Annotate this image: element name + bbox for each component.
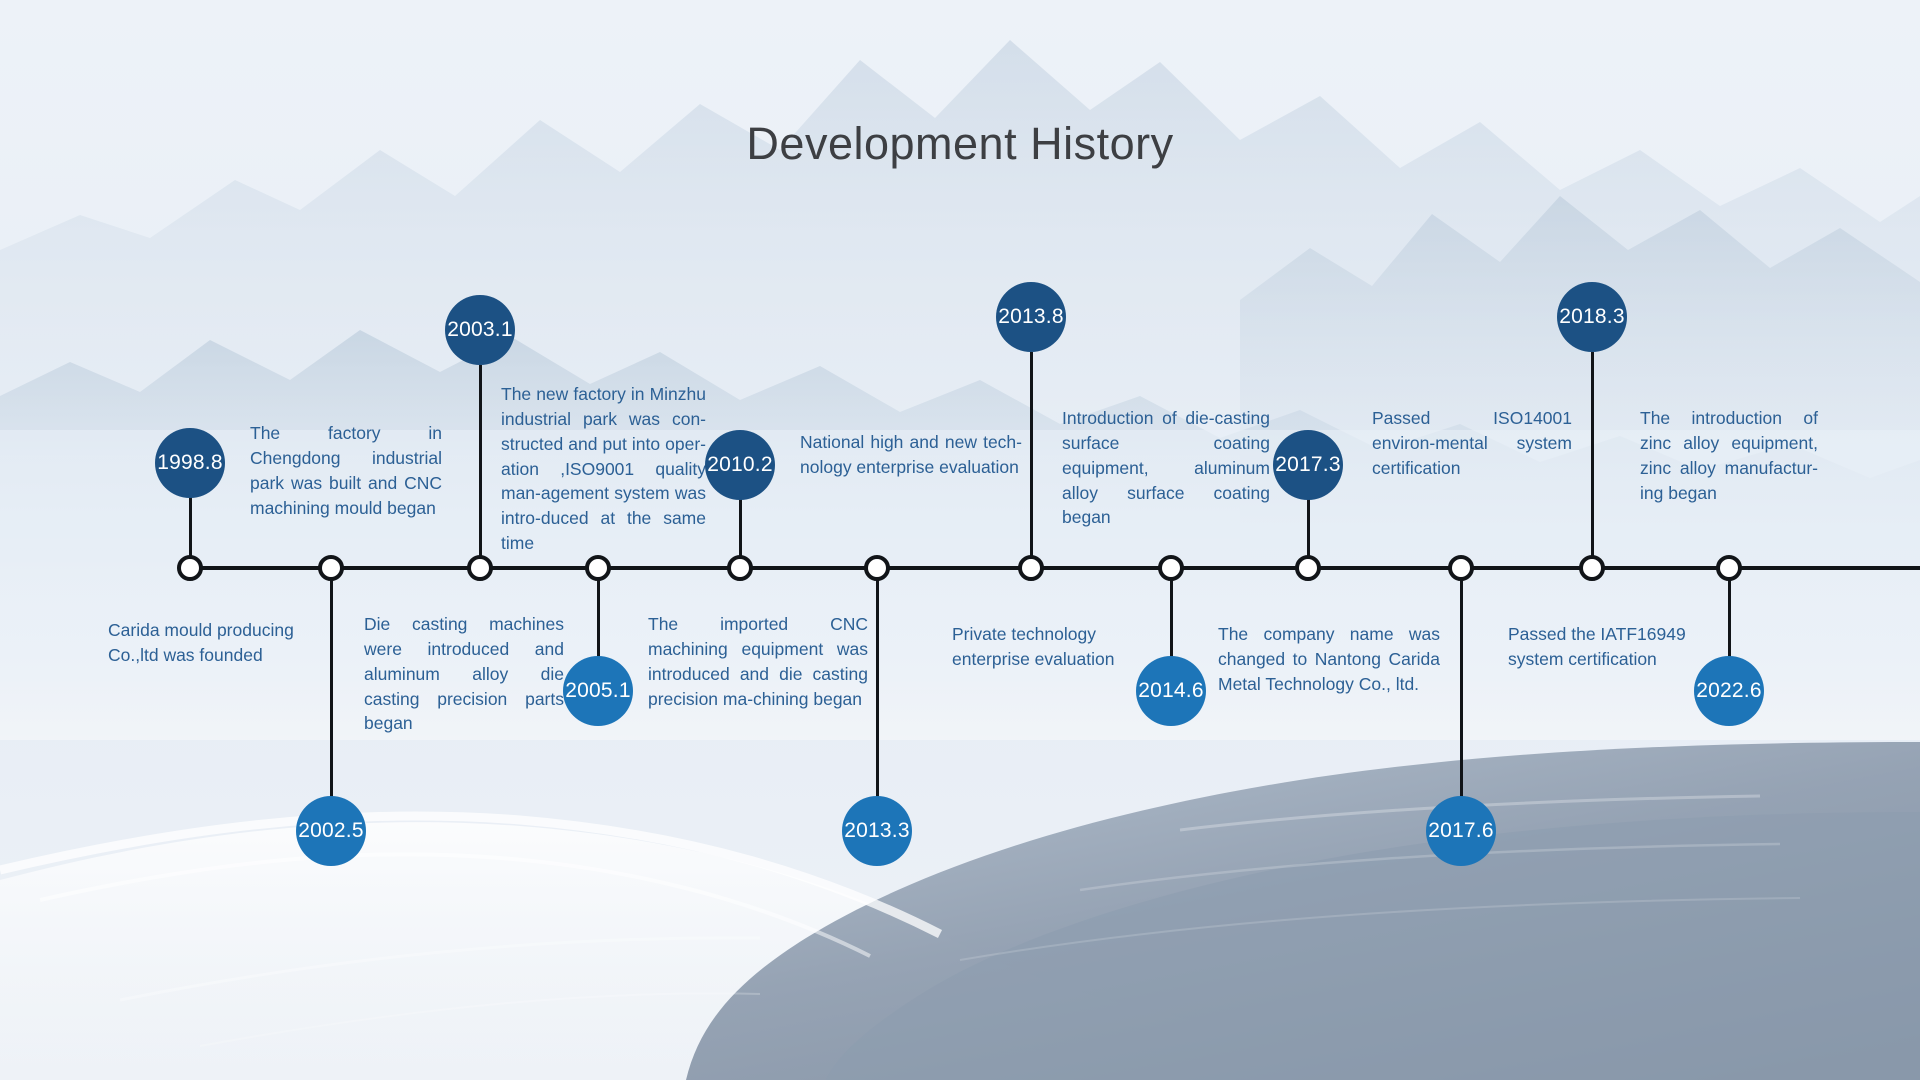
event-description-2002-5: The factory in Chengdong industrial park… (250, 421, 442, 520)
event-description-2013-8: Private technology enterprise evaluation (952, 622, 1132, 672)
year-bubble-2014-6[interactable]: 2014.6 (1136, 656, 1206, 726)
event-description-2017-3: The company name was changed to Nantong … (1218, 622, 1440, 697)
year-bubble-2018-3[interactable]: 2018.3 (1557, 282, 1627, 352)
stem-2018-3 (1591, 352, 1594, 566)
year-bubble-2013-3[interactable]: 2013.3 (842, 796, 912, 866)
timeline-infographic: Development History 1998.8 Carida mould … (0, 0, 1920, 1080)
year-label: 1998.8 (157, 451, 222, 475)
node-2022-6[interactable] (1716, 555, 1742, 581)
year-bubble-2017-3[interactable]: 2017.3 (1273, 430, 1343, 500)
year-bubble-2002-5[interactable]: 2002.5 (296, 796, 366, 866)
node-1998-8[interactable] (177, 555, 203, 581)
node-2003-1[interactable] (467, 555, 493, 581)
event-description-2003-1: The new factory in Minzhu industrial par… (501, 382, 706, 556)
stem-2017-6 (1460, 568, 1463, 818)
timeline-axis (178, 566, 1920, 570)
stem-2002-5 (330, 568, 333, 818)
stem-2003-1 (479, 365, 482, 566)
year-label: 2002.5 (298, 819, 363, 843)
event-description-2014-6: Introduction of die-casting surface coat… (1062, 406, 1270, 530)
year-bubble-2010-2[interactable]: 2010.2 (705, 430, 775, 500)
page-title: Development History (0, 118, 1920, 170)
year-bubble-2005-1[interactable]: 2005.1 (563, 656, 633, 726)
node-2010-2[interactable] (727, 555, 753, 581)
stem-2013-3 (876, 568, 879, 818)
node-2017-3[interactable] (1295, 555, 1321, 581)
year-bubble-2013-8[interactable]: 2013.8 (996, 282, 1066, 352)
year-label: 2017.3 (1275, 453, 1340, 477)
year-bubble-2003-1[interactable]: 2003.1 (445, 295, 515, 365)
node-2018-3[interactable] (1579, 555, 1605, 581)
year-label: 2003.1 (447, 318, 512, 342)
year-label: 2013.3 (844, 819, 909, 843)
year-label: 2010.2 (707, 453, 772, 477)
year-label: 2017.6 (1428, 819, 1493, 843)
node-2013-8[interactable] (1018, 555, 1044, 581)
event-description-2005-1: Die casting machines were introduced and… (364, 612, 564, 736)
node-2005-1[interactable] (585, 555, 611, 581)
year-bubble-1998-8[interactable]: 1998.8 (155, 428, 225, 498)
year-label: 2022.6 (1696, 679, 1761, 703)
event-description-2017-6: Passed ISO14001 environ-mental system ce… (1372, 406, 1572, 481)
event-description-2022-6: The introduction of zinc alloy equipment… (1640, 406, 1818, 505)
event-description-2010-2: The imported CNC machining equipment was… (648, 612, 868, 711)
year-bubble-2022-6[interactable]: 2022.6 (1694, 656, 1764, 726)
year-bubble-2017-6[interactable]: 2017.6 (1426, 796, 1496, 866)
event-description-1998-8: Carida mould producing Co.,ltd was found… (108, 618, 338, 668)
node-2017-6[interactable] (1448, 555, 1474, 581)
node-2014-6[interactable] (1158, 555, 1184, 581)
year-label: 2005.1 (565, 679, 630, 703)
year-label: 2013.8 (998, 305, 1063, 329)
node-2013-3[interactable] (864, 555, 890, 581)
year-label: 2014.6 (1138, 679, 1203, 703)
node-2002-5[interactable] (318, 555, 344, 581)
year-label: 2018.3 (1559, 305, 1624, 329)
stem-2013-8 (1030, 352, 1033, 566)
event-description-2013-3: National high and new tech-nology enterp… (800, 430, 1022, 480)
event-description-2018-3: Passed the IATF16949 system certificatio… (1508, 622, 1692, 672)
